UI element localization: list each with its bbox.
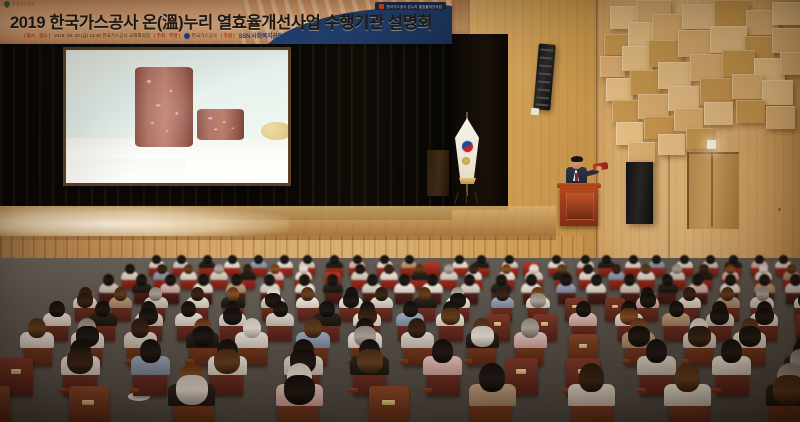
audience-member-head: [479, 363, 505, 391]
audience-member-hair: [773, 375, 800, 405]
audience-member-head: [675, 363, 701, 391]
seat-number-plate: [382, 400, 394, 406]
audience-member-hair: [284, 375, 316, 405]
auditorium-photo: 한국가스공사 한국가스공사 온누리 열효율개선사업 2019 한국가스공사 온(…: [0, 0, 800, 422]
audience-row: [0, 0, 800, 422]
audience-member-head: [579, 363, 605, 391]
auditorium-seat[interactable]: [0, 386, 10, 422]
seat-number-plate: [82, 400, 94, 406]
audience-member-hair: [176, 375, 208, 405]
